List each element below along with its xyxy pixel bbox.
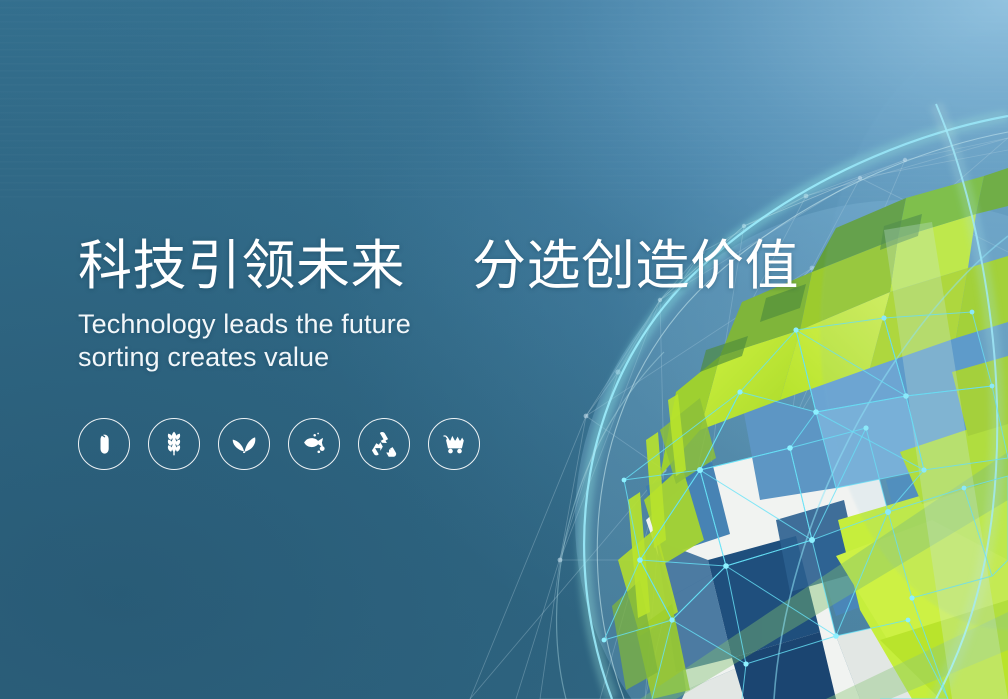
headline-left: 科技引领未来: [78, 236, 405, 296]
fish-icon: [299, 429, 329, 459]
tea-leaf-icon: [229, 429, 259, 459]
banner-stage: 科技引领未来 分选创造价值 Technology leads the futur…: [0, 0, 1008, 699]
tea-leaf-icon-badge[interactable]: [218, 418, 270, 470]
recycle-icon-badge[interactable]: [358, 418, 410, 470]
page-title: 科技引领未来 分选创造价值: [78, 236, 778, 296]
subtitle-line-1: Technology leads the future: [78, 308, 778, 341]
subtitle: Technology leads the future sorting crea…: [78, 308, 778, 374]
mine-cart-icon-badge[interactable]: [428, 418, 480, 470]
industry-icon-row: [78, 418, 480, 470]
fish-icon-badge[interactable]: [288, 418, 340, 470]
recycle-icon: [370, 430, 399, 459]
rice-grain-icon-badge[interactable]: [78, 418, 130, 470]
wheat-icon-badge[interactable]: [148, 418, 200, 470]
headline-block: 科技引领未来 分选创造价值 Technology leads the futur…: [78, 236, 778, 374]
subtitle-line-2: sorting creates value: [78, 341, 778, 374]
wheat-icon: [160, 430, 188, 458]
mine-cart-icon: [439, 429, 469, 459]
headline-right: 分选创造价值: [472, 236, 799, 296]
rice-grain-icon: [91, 431, 117, 457]
